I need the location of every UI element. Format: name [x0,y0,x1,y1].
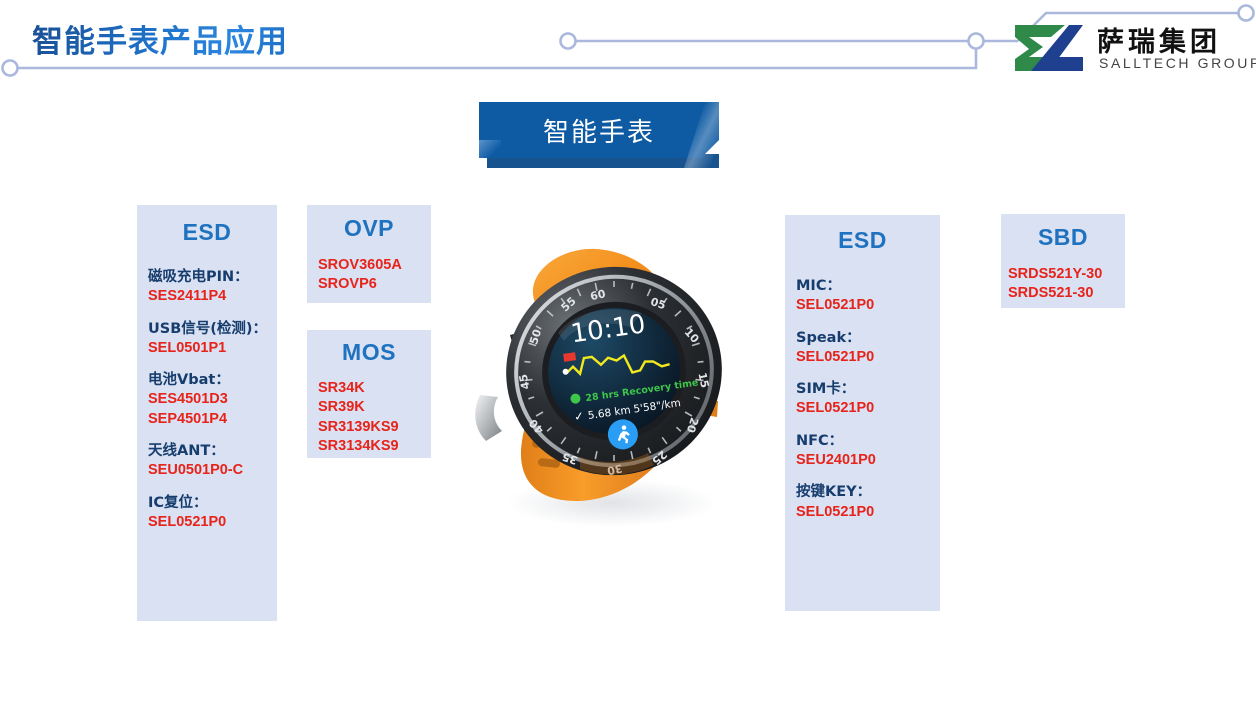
panel-body: MIC： SEL0521P0 Speak： SEL0521P0 SIM卡： SE… [796,277,940,522]
part-number: SR3139KS9 [318,418,431,437]
part-number: SEL0521P0 [796,503,940,522]
panel-body: 磁吸充电PIN： SES2411P4 USB信号(检测)： SEL0501P1 … [148,268,277,532]
panel-body: SROV3605A SROVP6 [318,256,431,295]
part-number: SES2411P4 [148,287,277,306]
part-group: IC复位： SEL0521P0 [148,494,277,533]
slide-root: 智能手表产品应用 萨瑞集团 SALLTECH GROUP 智能手表 ESD 磁吸… [0,0,1256,706]
part-group: 天线ANT： SEU0501P0-C [148,442,277,481]
part-number: SROV3605A [318,256,431,275]
panel-esd-right: ESD MIC： SEL0521P0 Speak： SEL0521P0 SIM卡… [785,215,940,611]
part-group: SIM卡： SEL0521P0 [796,380,940,419]
part-number: SEL0521P0 [796,399,940,418]
part-label: USB信号(检测)： [148,320,277,339]
logo-chinese-name: 萨瑞集团 [1097,20,1221,59]
part-label: Speak： [796,329,940,348]
part-number: SEL0501P1 [148,339,277,358]
part-number: SEL0521P0 [148,513,277,532]
part-number: SR3134KS9 [318,437,431,456]
panel-esd-left: ESD 磁吸充电PIN： SES2411P4 USB信号(检测)： SEL050… [137,205,277,621]
panel-title: ESD [785,227,940,254]
panel-title: ESD [137,219,277,246]
part-group: NFC： SEU2401P0 [796,432,940,471]
panel-sbd: SBD SRDS521Y-30 SRDS521-30 [1001,214,1125,308]
company-logo: 萨瑞集团 SALLTECH GROUP [1013,20,1243,78]
salltech-logo-icon [1013,23,1085,73]
panel-title: OVP [307,215,431,242]
part-label: 按键KEY： [796,483,940,502]
part-group: 电池Vbat： SES4501D3 SEP4501P4 [148,371,277,429]
section-banner: 智能手表 [479,102,725,170]
part-group: USB信号(检测)： SEL0501P1 [148,320,277,359]
watch-graph-marker [563,352,576,362]
part-label: SIM卡： [796,380,940,399]
panel-mos: MOS SR34K SR39K SR3139KS9 SR3134KS9 [307,330,431,458]
banner-label: 智能手表 [479,102,719,158]
panel-body: SRDS521Y-30 SRDS521-30 [1008,265,1125,304]
part-label: 天线ANT： [148,442,277,461]
part-number: SEL0521P0 [796,348,940,367]
watch-check-icon: ✓ [573,409,585,424]
part-label: 磁吸充电PIN： [148,268,277,287]
part-number: SES4501D3 [148,390,277,409]
panel-title: MOS [307,339,431,366]
page-title: 智能手表产品应用 [32,16,288,61]
watch-buckle [475,395,502,441]
part-group: 磁吸充电PIN： SES2411P4 [148,268,277,307]
part-number: SEU2401P0 [796,451,940,470]
part-label: NFC： [796,432,940,451]
part-number: SROVP6 [318,275,431,294]
part-number: SEP4501P4 [148,410,277,429]
panel-body: SR34K SR39K SR3139KS9 SR3134KS9 [318,379,431,456]
part-label: IC复位： [148,494,277,513]
part-label: MIC： [796,277,940,296]
part-number: SRDS521Y-30 [1008,265,1125,284]
panel-title: SBD [1001,224,1125,251]
part-number: SR34K [318,379,431,398]
panel-ovp: OVP SROV3605A SROVP6 [307,205,431,303]
part-group: MIC： SEL0521P0 [796,277,940,316]
part-label: 电池Vbat： [148,371,277,390]
part-group: 按键KEY： SEL0521P0 [796,483,940,522]
part-number: SEU0501P0-C [148,461,277,480]
part-number: SR39K [318,398,431,417]
part-number: SRDS521-30 [1008,284,1125,303]
logo-english-name: SALLTECH GROUP [1099,55,1256,71]
part-group: Speak： SEL0521P0 [796,329,940,368]
orange-smartwatch-image: 60 05 10 15 20 25 30 35 40 45 50 55 10:1… [462,235,752,535]
part-number: SEL0521P0 [796,296,940,315]
